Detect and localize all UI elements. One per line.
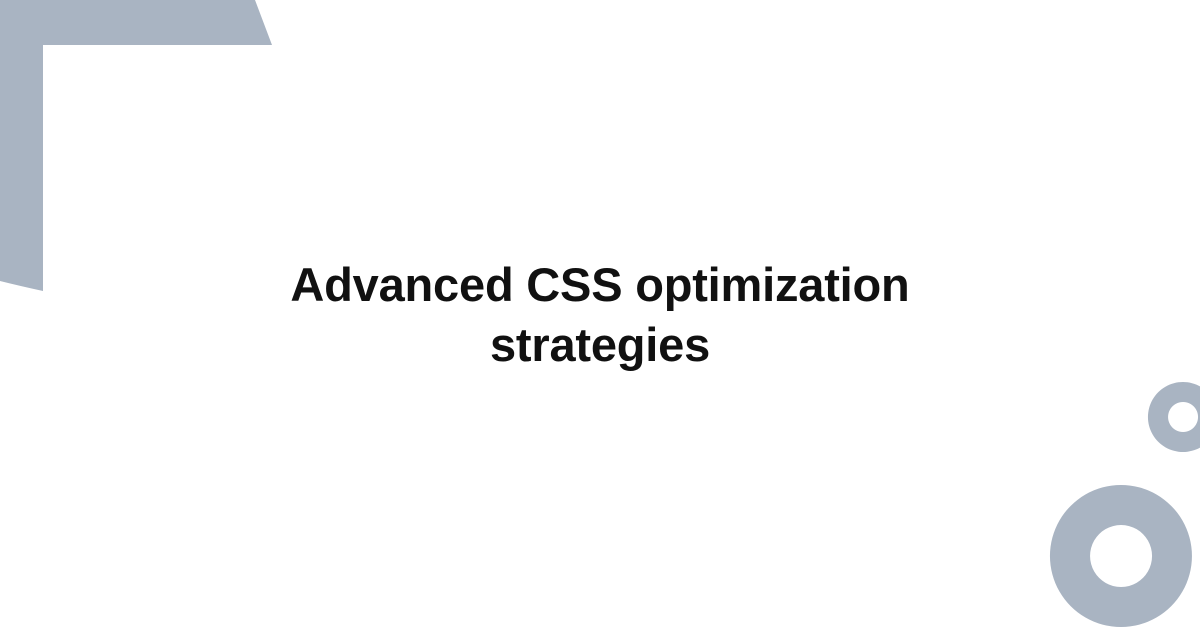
- page-title: Advanced CSS optimization strategies: [250, 255, 950, 375]
- title-block: Advanced CSS optimization strategies: [0, 0, 1200, 630]
- social-card-canvas: Advanced CSS optimization strategies: [0, 0, 1200, 630]
